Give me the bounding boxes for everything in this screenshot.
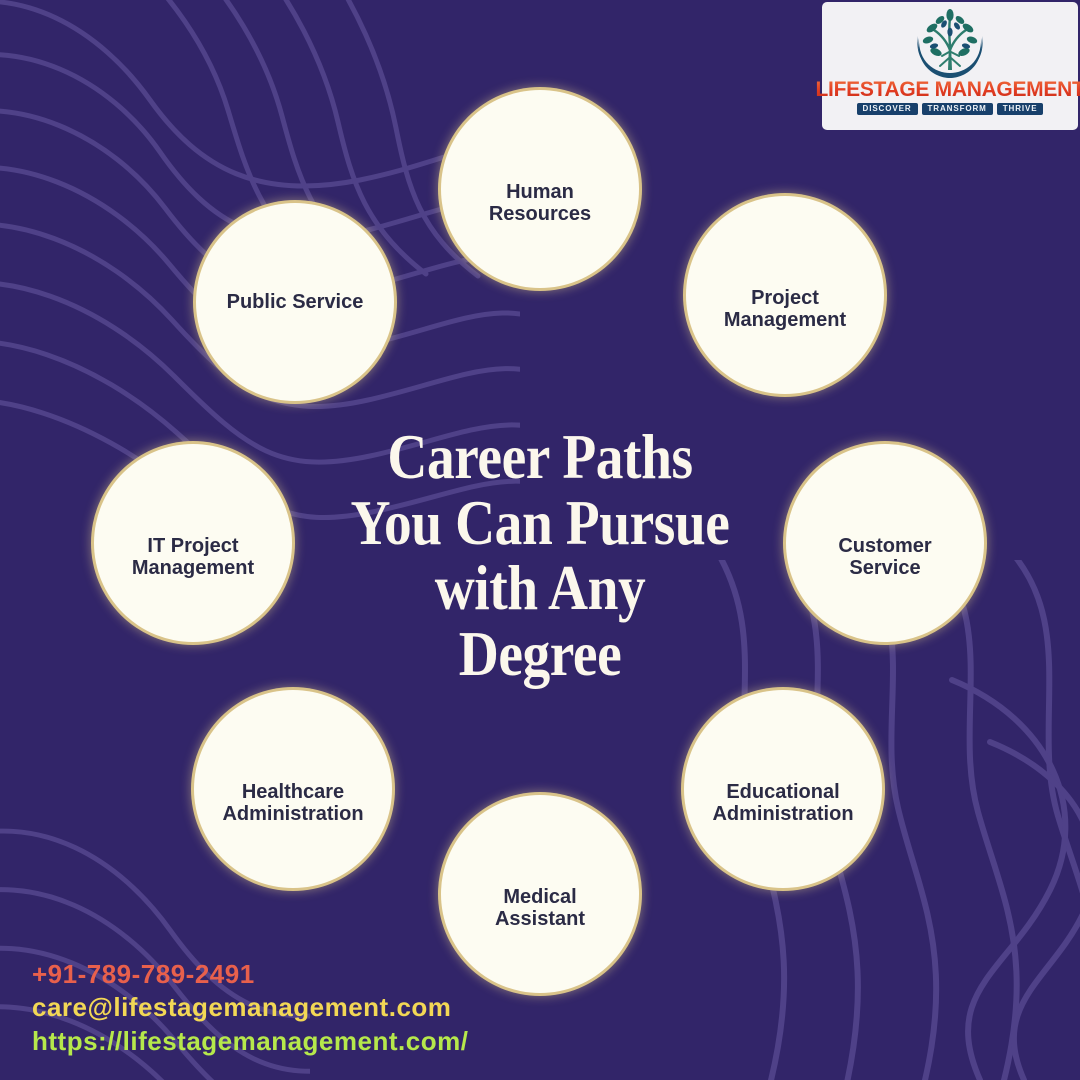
career-node-customer-service[interactable]: CustomerService <box>786 444 984 642</box>
headline-line-2: You Can Pursue <box>338 491 743 557</box>
career-node-public-service[interactable]: Public Service <box>196 203 394 401</box>
logo-wordmark: LIFESTAGE MANAGEMENT <box>816 79 1080 100</box>
poster-canvas: LIFESTAGE MANAGEMENT DISCOVER TRANSFORM … <box>0 0 1080 1080</box>
career-node-label: ProjectManagement <box>708 287 862 332</box>
page-title: Career Paths You Can Pursue with Any Deg… <box>310 425 770 687</box>
tagline-discover: DISCOVER <box>857 103 918 115</box>
career-node-label: EducationalAdministration <box>696 781 869 826</box>
contact-block: +91-789-789-2491 care@lifestagemanagemen… <box>32 958 468 1058</box>
career-node-it-project-management[interactable]: IT ProjectManagement <box>94 444 292 642</box>
career-node-human-resources[interactable]: HumanResources <box>441 90 639 288</box>
logo-taglines: DISCOVER TRANSFORM THRIVE <box>857 103 1044 115</box>
tree-with-crescent-emblem <box>902 6 998 78</box>
career-node-educational-administration[interactable]: EducationalAdministration <box>684 690 882 888</box>
contact-website[interactable]: https://lifestagemanagement.com/ <box>32 1025 468 1058</box>
contact-email[interactable]: care@lifestagemanagement.com <box>32 991 468 1024</box>
career-node-medical-assistant[interactable]: MedicalAssistant <box>441 795 639 993</box>
contact-phone[interactable]: +91-789-789-2491 <box>32 958 468 991</box>
headline-line-3: with Any <box>338 556 743 622</box>
career-node-label: CustomerService <box>822 535 947 580</box>
career-node-healthcare-administration[interactable]: HealthcareAdministration <box>194 690 392 888</box>
headline-line-1: Career Paths <box>338 425 743 491</box>
tagline-thrive: THRIVE <box>997 103 1044 115</box>
career-node-label: HumanResources <box>473 181 607 226</box>
career-node-project-management[interactable]: ProjectManagement <box>686 196 884 394</box>
brand-logo-panel[interactable]: LIFESTAGE MANAGEMENT DISCOVER TRANSFORM … <box>822 2 1078 130</box>
career-node-label: IT ProjectManagement <box>116 535 270 580</box>
career-node-label: HealthcareAdministration <box>206 781 379 826</box>
career-node-label: MedicalAssistant <box>479 886 601 931</box>
tagline-transform: TRANSFORM <box>922 103 993 115</box>
headline-line-4: Degree <box>338 622 743 688</box>
career-node-label: Public Service <box>211 291 380 313</box>
